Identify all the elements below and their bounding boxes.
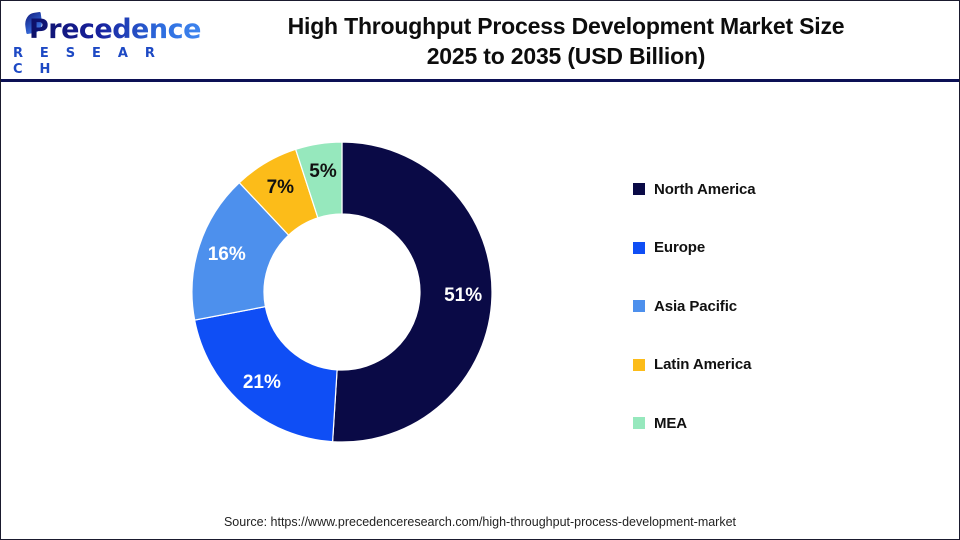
- legend-item-label: Europe: [654, 239, 705, 256]
- chart-screenshot: Precedence R E S E A R C H High Throughp…: [0, 0, 960, 540]
- legend-item[interactable]: North America: [633, 160, 933, 219]
- donut-slice[interactable]: [195, 307, 337, 442]
- legend-item[interactable]: Europe: [633, 219, 933, 278]
- chart-legend: North AmericaEuropeAsia PacificLatin Ame…: [633, 160, 933, 453]
- header-bar: Precedence R E S E A R C H High Throughp…: [1, 1, 959, 82]
- precedence-research-logo: Precedence R E S E A R C H: [11, 15, 186, 67]
- legend-item[interactable]: Latin America: [633, 336, 933, 395]
- legend-swatch-icon: [633, 300, 645, 312]
- page-title: High Throughput Process Development Mark…: [196, 11, 936, 71]
- legend-item-label: North America: [654, 181, 756, 198]
- legend-item-label: Asia Pacific: [654, 298, 737, 315]
- source-caption: Source: https://www.precedenceresearch.c…: [1, 515, 959, 529]
- logo-wordmark: Precedence: [29, 15, 201, 45]
- donut-slice-group: [192, 142, 492, 442]
- page-title-line-1: High Throughput Process Development Mark…: [196, 11, 936, 41]
- donut-slice[interactable]: [333, 142, 492, 442]
- legend-swatch-icon: [633, 359, 645, 371]
- legend-item-label: Latin America: [654, 356, 751, 373]
- logo-subtitle: R E S E A R C H: [13, 46, 186, 78]
- legend-swatch-icon: [633, 183, 645, 195]
- legend-item[interactable]: Asia Pacific: [633, 277, 933, 336]
- donut-chart: 51%21%16%7%5%: [191, 141, 493, 443]
- legend-swatch-icon: [633, 242, 645, 254]
- legend-swatch-icon: [633, 417, 645, 429]
- page-title-line-2: 2025 to 2035 (USD Billion): [196, 41, 936, 71]
- chart-body: 51%21%16%7%5% North AmericaEuropeAsia Pa…: [1, 85, 959, 539]
- legend-item-label: MEA: [654, 415, 687, 432]
- legend-item[interactable]: MEA: [633, 394, 933, 453]
- donut-chart-svg: [191, 141, 493, 443]
